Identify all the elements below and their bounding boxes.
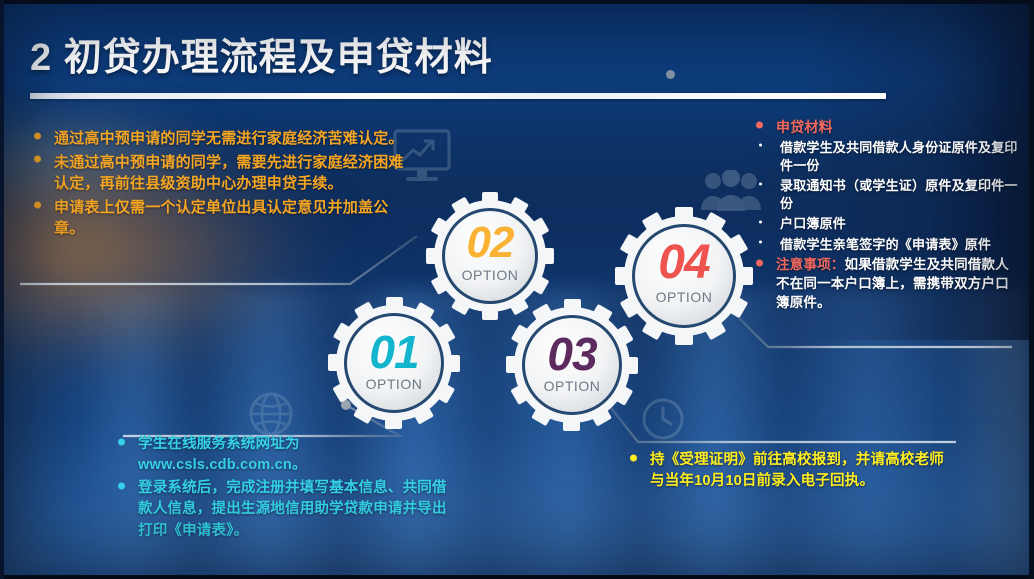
list-item-text: 借款学生亲笔签字的《申请表》原件 (780, 237, 991, 252)
list-item-text: 未通过高中预申请的同学，需要先进行家庭经济困难认定，再前往县级资助中心办理申贷手… (54, 154, 404, 193)
list-item: 借款学生亲笔签字的《申请表》原件 (756, 236, 1018, 254)
bullet-dot-small (759, 221, 762, 224)
gear-caption: OPTION (504, 379, 640, 393)
right-text-block: 申贷材料 借款学生及共同借款人身份证原件及复印件一份 录取通知书（或学生证）原件… (756, 118, 1018, 314)
gear-number: 02 (424, 218, 556, 268)
list-item: 学生在线服务系统网址为www.csls.cdb.com.cn。 (118, 434, 448, 476)
list-item: 录取通知书（或学生证）原件及复印件一份 (756, 177, 1018, 213)
list-item-text: 申请表上仅需一个认定单位出具认定意见并加盖公章。 (54, 199, 388, 238)
list-item: 持《受理证明》前往高校报到，并请高校老师与当年10月10日前录入电子回执。 (630, 450, 950, 492)
right-heading-text: 申贷材料 (776, 119, 833, 135)
list-item-text: 持《受理证明》前往高校报到，并请高校老师与当年10月10日前录入电子回执。 (650, 452, 944, 489)
list-item-text: 通过高中预申请的同学无需进行家庭经济苦难认定。 (54, 130, 404, 147)
list-item-text: 学生在线服务系统网址为www.csls.cdb.com.cn。 (138, 436, 307, 473)
gear-number: 04 (613, 235, 755, 290)
bullet-dot-small (759, 144, 762, 147)
list-item: 借款学生及共同借款人身份证原件及复印件一份 (756, 139, 1018, 175)
edge-top (0, 0, 1034, 4)
list-item-text: 登录系统后，完成注册并填写基本信息、共同借款人信息，提出生源地信用助学贷款申请并… (138, 480, 447, 538)
right-bottom-text-block: 持《受理证明》前往高校报到，并请高校老师与当年10月10日前录入电子回执。 (630, 450, 950, 494)
bullet-dot (34, 201, 41, 208)
right-block-heading: 申贷材料 (756, 118, 1018, 138)
left-bottom-text-block: 学生在线服务系统网址为www.csls.cdb.com.cn。 登录系统后，完成… (118, 434, 448, 544)
gear-caption: OPTION (326, 377, 462, 391)
notice-label: 注意事项： (776, 257, 845, 272)
list-item-text: 录取通知书（或学生证）原件及复印件一份 (780, 178, 1018, 211)
list-item: 未通过高中预申请的同学，需要先进行家庭经济困难认定，再前往县级资助中心办理申贷手… (34, 152, 404, 195)
bullet-dot (630, 454, 637, 461)
edge-right (1029, 0, 1034, 579)
list-item: 通过高中预申请的同学无需进行家庭经济苦难认定。 (34, 128, 404, 150)
list-item: 户口簿原件 (756, 215, 1018, 233)
gear-number: 03 (504, 327, 640, 381)
bullet-dot (756, 259, 763, 266)
list-item-text: 借款学生及共同借款人身份证原件及复印件一份 (780, 140, 1018, 173)
page-title: 2 初贷办理流程及申贷材料 (30, 26, 493, 81)
gear-step-03[interactable]: 03 OPTION (504, 297, 640, 433)
left-top-text-block: 通过高中预申请的同学无需进行家庭经济苦难认定。 未通过高中预申请的同学，需要先进… (34, 128, 404, 242)
bullet-dot (118, 438, 125, 445)
list-item-text: 户口簿原件 (780, 216, 846, 231)
gear-caption: OPTION (424, 268, 556, 282)
bullet-dot-small (759, 241, 762, 244)
clock-icon (641, 397, 685, 446)
list-item: 登录系统后，完成注册并填写基本信息、共同借款人信息，提出生源地信用助学贷款申请并… (118, 478, 448, 541)
bullet-dot-small (759, 182, 762, 185)
bullet-dot (118, 482, 125, 489)
bullet-dot (34, 132, 41, 139)
gear-number: 01 (326, 325, 462, 379)
bullet-dot (34, 156, 41, 163)
bullet-dot (756, 122, 763, 129)
list-item: 申请表上仅需一个认定单位出具认定意见并加盖公章。 (34, 197, 404, 240)
notice-item: 注意事项：如果借款学生及共同借款人不在同一本户口簿上，需携带双方户口簿原件。 (756, 256, 1018, 313)
title-underline (30, 93, 886, 99)
gear-step-01[interactable]: 01 OPTION (326, 295, 462, 431)
slide-canvas: 02 OPTION (0, 0, 1034, 579)
decorative-dot (666, 70, 675, 79)
edge-bottom (0, 575, 1034, 579)
edge-left (0, 0, 4, 579)
